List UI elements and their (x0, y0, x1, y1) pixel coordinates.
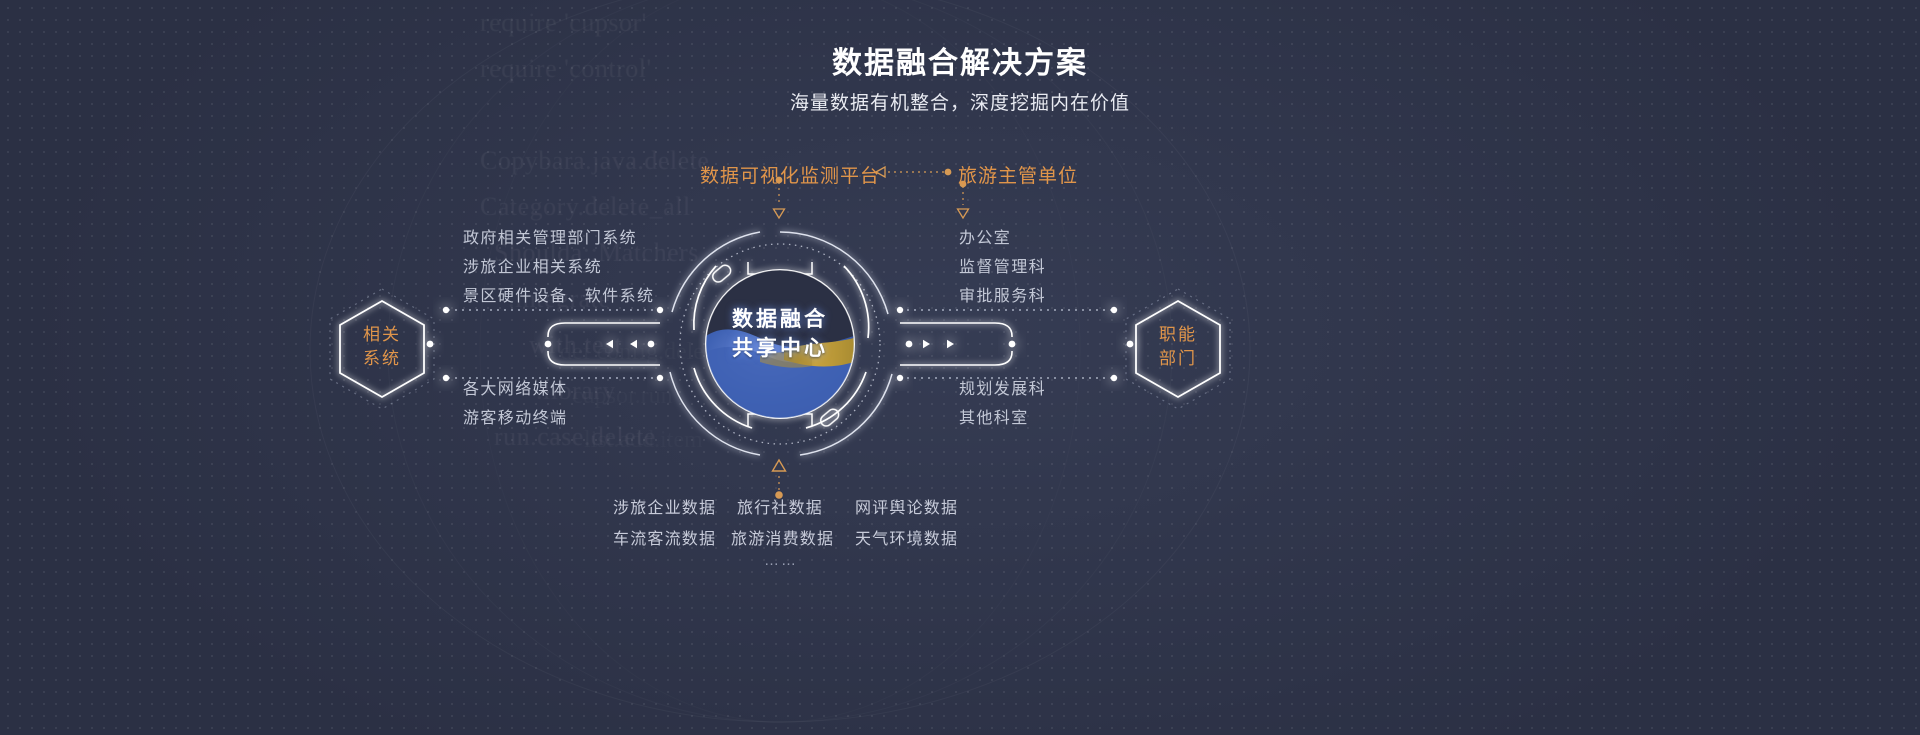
right-item-supervision-dept[interactable]: 监督管理科 (959, 253, 1046, 277)
left-item-government-systems[interactable]: 政府相关管理部门系统 (463, 224, 637, 248)
left-hexagon-label[interactable]: 相关 系统 (337, 323, 427, 371)
left-item-tourist-mobile-terminal[interactable]: 游客移动终端 (463, 404, 567, 428)
diagram-canvas: require 'cupsor' require 'control' Copyb… (0, 0, 1920, 735)
right-item-approval-service-dept[interactable]: 审批服务科 (959, 282, 1046, 306)
left-hexagon-line2: 系统 (337, 347, 427, 371)
bottom-item-weather-environment-data[interactable]: 天气环境数据 (855, 525, 958, 549)
left-connector-rail (427, 307, 664, 381)
bottom-connector (773, 460, 786, 499)
center-hub-label: 数据融合 共享中心 (706, 305, 854, 363)
center-line2: 共享中心 (706, 334, 854, 363)
right-hexagon-line1: 职能 (1133, 323, 1223, 347)
bottom-item-tourism-consumption-data[interactable]: 旅游消费数据 (731, 525, 834, 549)
left-item-tourism-enterprise-systems[interactable]: 涉旅企业相关系统 (463, 253, 602, 277)
label-visualization-platform[interactable]: 数据可视化监测平台 (700, 161, 880, 188)
right-item-planning-dept[interactable]: 规划发展科 (959, 375, 1046, 399)
page-title: 数据融合解决方案 (0, 38, 1920, 82)
label-tourism-authority[interactable]: 旅游主管单位 (958, 161, 1078, 188)
bottom-item-traffic-flow-data[interactable]: 车流客流数据 (613, 525, 716, 549)
left-hexagon-line1: 相关 (337, 323, 427, 347)
left-item-network-media[interactable]: 各大网络媒体 (463, 375, 567, 399)
right-connector-rail (897, 307, 1134, 381)
right-hexagon-label[interactable]: 职能 部门 (1133, 323, 1223, 371)
right-hexagon-line2: 部门 (1133, 347, 1223, 371)
ring-node-capsule (710, 263, 732, 284)
bottom-item-online-review-data[interactable]: 网评舆论数据 (855, 494, 958, 518)
bottom-item-enterprise-data[interactable]: 涉旅企业数据 (613, 494, 716, 518)
left-item-scenic-hardware-software[interactable]: 景区硬件设备、软件系统 (463, 282, 654, 306)
page-subtitle: 海量数据有机整合，深度挖掘内在价值 (0, 88, 1920, 115)
right-item-office[interactable]: 办公室 (959, 224, 1011, 248)
bottom-ellipsis: …… (764, 552, 798, 569)
right-item-other-depts[interactable]: 其他科室 (959, 404, 1029, 428)
bottom-item-travel-agency-data[interactable]: 旅行社数据 (737, 494, 823, 518)
center-line1: 数据融合 (706, 305, 854, 334)
